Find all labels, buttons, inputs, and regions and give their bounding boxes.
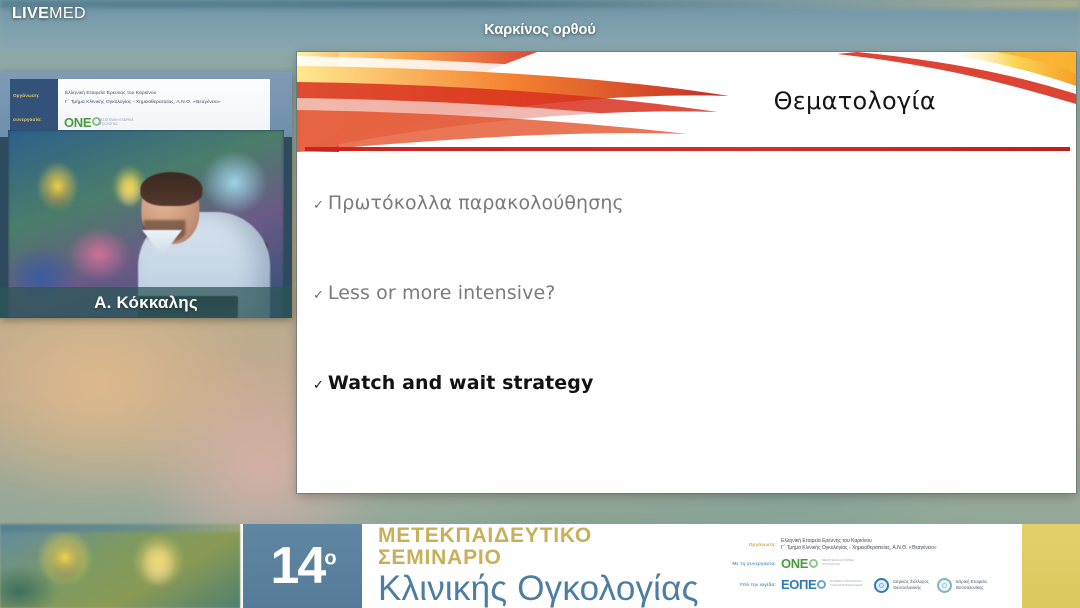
presentation-slide[interactable]: Θεματολογία ✓ Πρωτόκολλα παρακολούθησης …: [297, 52, 1076, 493]
banner-seal2-line2: Θεσσαλονίκης: [956, 585, 984, 590]
check-icon: ✓: [313, 199, 324, 212]
slide-header-divider: [305, 147, 1070, 151]
banner-title-block: ΜΕΤΕΚΠΑΙΔΕΥΤΙΚΟ ΣΕΜΙΝΑΡΙΟ Κλινικής Ογκολ…: [362, 524, 722, 608]
slide-title: Θεματολογία: [774, 87, 936, 115]
banner-edition-ordinal: ο: [324, 548, 334, 570]
banner-auspices-logos: ΕΟΠΕΕΤΑΙΡΕΙΑ ΟΓΚΟΛΟΓΩΝ ΠΑΘΟΛΟΓΩΝ ΕΛΛΑΔΑΣ…: [781, 576, 987, 594]
bullet-item: ✓ Πρωτόκολλα παρακολούθησης: [313, 192, 1056, 214]
banner-auspices-row: Υπό την αιγίδα: ΕΟΠΕΕΤΑΙΡΕΙΑ ΟΓΚΟΛΟΓΩΝ Π…: [727, 576, 1016, 594]
banner-left-artwork: [0, 524, 240, 608]
slide-header-graphic: [297, 52, 1076, 152]
banner-organizers-block: Οργάνωση: Ελληνική Εταιρεία Ερεύνης του …: [722, 524, 1022, 608]
video-stage-banner: Οργάνωση: συνεργασία: Ελληνική Εταιρεία …: [0, 72, 292, 137]
banner-seal1-line2: Θεσσαλονίκης: [893, 585, 921, 590]
session-title: Καρκίνος ορθού: [0, 22, 1080, 38]
banner-org-line1: Ελληνική Εταιρεία Ερεύνης του Καρκίνου: [781, 538, 937, 545]
banner-main-title: Κλινικής Ογκολογίας: [378, 571, 722, 608]
speaker-name-bar: Α. Κόκκαλης: [0, 287, 292, 318]
check-icon: ✓: [313, 379, 324, 392]
medical-society-seal-icon: [937, 578, 952, 593]
banner-one-text: ONE: [781, 556, 808, 571]
bullet-item: ✓ Less or more intensive?: [313, 282, 1056, 304]
livemed-logo-med: MED: [49, 5, 86, 22]
banner-seal2-text: Ιατρική ΕταιρείαΘεσσαλονίκης: [956, 579, 987, 592]
banner-eope-text: ΕΟΠΕ: [781, 577, 816, 592]
banner-edition-number-block: 14ο: [240, 524, 362, 608]
video-banner-collab-label: συνεργασία:: [13, 117, 42, 122]
event-bottom-banner: 14ο ΜΕΤΕΚΠΑΙΔΕΥΤΙΚΟ ΣΕΜΙΝΑΡΙΟ Κλινικής Ο…: [0, 524, 1080, 608]
circle-icon: [809, 559, 818, 568]
banner-org-names: Ελληνική Εταιρεία Ερεύνης του Καρκίνου Γ…: [781, 538, 937, 553]
banner-left-top-strip: [0, 524, 240, 532]
slide-bullet-list: ✓ Πρωτόκολλα παρακολούθησης ✓ Less or mo…: [313, 192, 1056, 462]
video-banner-one-logo: ONE: [64, 115, 101, 130]
background-top-strip: [0, 0, 1080, 8]
banner-seal1-text: Ιατρικός ΣύλλογοςΘεσσαλονίκης: [893, 579, 929, 592]
banner-org-line2: Γ΄ Τμήμα Κλινικής Ογκολογίας - Χημειοθερ…: [781, 545, 937, 552]
banner-eope-subtitle: ΕΤΑΙΡΕΙΑ ΟΓΚΟΛΟΓΩΝ ΠΑΘΟΛΟΓΩΝ ΕΛΛΑΔΑΣ: [830, 580, 866, 588]
video-banner-one-text: ONE: [64, 115, 91, 130]
banner-auspices-label: Υπό την αιγίδα:: [727, 583, 781, 588]
banner-org-row: Οργάνωση: Ελληνική Εταιρεία Ερεύνης του …: [727, 538, 1016, 553]
livemed-logo-live: LIVE: [12, 5, 49, 22]
video-banner-org-line1: Ελληνική Εταιρεία Έρευνας του Καρκίνου: [65, 91, 156, 96]
bullet-text: Watch and wait strategy: [328, 372, 594, 394]
banner-one-logo: ONEΜΕΣΟΓΕΙΑΚΗ ΕΤΑΙΡΕΙΑ ΟΓΚΟΛΟΓΙΑΣ: [781, 555, 858, 573]
banner-edition-digits: 14: [270, 537, 324, 595]
slide-header-swoosh-icon: [297, 52, 1076, 152]
banner-one-subtitle: ΜΕΣΟΓΕΙΑΚΗ ΕΤΑΙΡΕΙΑ ΟΓΚΟΛΟΓΙΑΣ: [822, 559, 858, 567]
banner-collab-label: Με τη συνεργασία:: [727, 562, 781, 567]
banner-kicker: ΜΕΤΕΚΠΑΙΔΕΥΤΙΚΟ ΣΕΜΙΝΑΡΙΟ: [378, 525, 722, 569]
speaker-name: Α. Κόκκαλης: [94, 293, 198, 313]
video-banner-left-column: [10, 79, 58, 137]
livemed-logo: LIVEMED: [12, 5, 86, 23]
video-banner-one-subtitle: ΜΕΣΟΓΕΙΑΚΗ ΕΤΑΙΡΕΙΑ ΟΓΚΟΛΟΓΙΑΣ: [98, 118, 144, 127]
circle-icon: [817, 580, 826, 589]
banner-org-label: Οργάνωση:: [727, 543, 781, 548]
bullet-item: ✓ Watch and wait strategy: [313, 372, 1056, 394]
banner-seal2-line1: Ιατρική Εταιρεία: [956, 579, 987, 584]
speaker-video-panel[interactable]: Οργάνωση: συνεργασία: Ελληνική Εταιρεία …: [0, 72, 292, 318]
banner-edition-number: 14ο: [270, 540, 334, 592]
medical-association-seal-icon: [874, 578, 889, 593]
video-banner-card: Οργάνωση: συνεργασία: Ελληνική Εταιρεία …: [10, 79, 270, 137]
video-banner-org-line2: Γ΄ Τμήμα Κλινικής Ογκολογίας - Χημειοθερ…: [65, 100, 221, 105]
banner-seal1-line1: Ιατρικός Σύλλογος: [893, 579, 929, 584]
bullet-text: Πρωτόκολλα παρακολούθησης: [328, 192, 624, 214]
banner-collab-row: Με τη συνεργασία: ONEΜΕΣΟΓΕΙΑΚΗ ΕΤΑΙΡΕΙΑ…: [727, 555, 1016, 573]
banner-gold-block: [1022, 524, 1080, 608]
bullet-text: Less or more intensive?: [328, 282, 556, 304]
check-icon: ✓: [313, 289, 324, 302]
video-banner-org-label: Οργάνωση:: [13, 93, 40, 98]
